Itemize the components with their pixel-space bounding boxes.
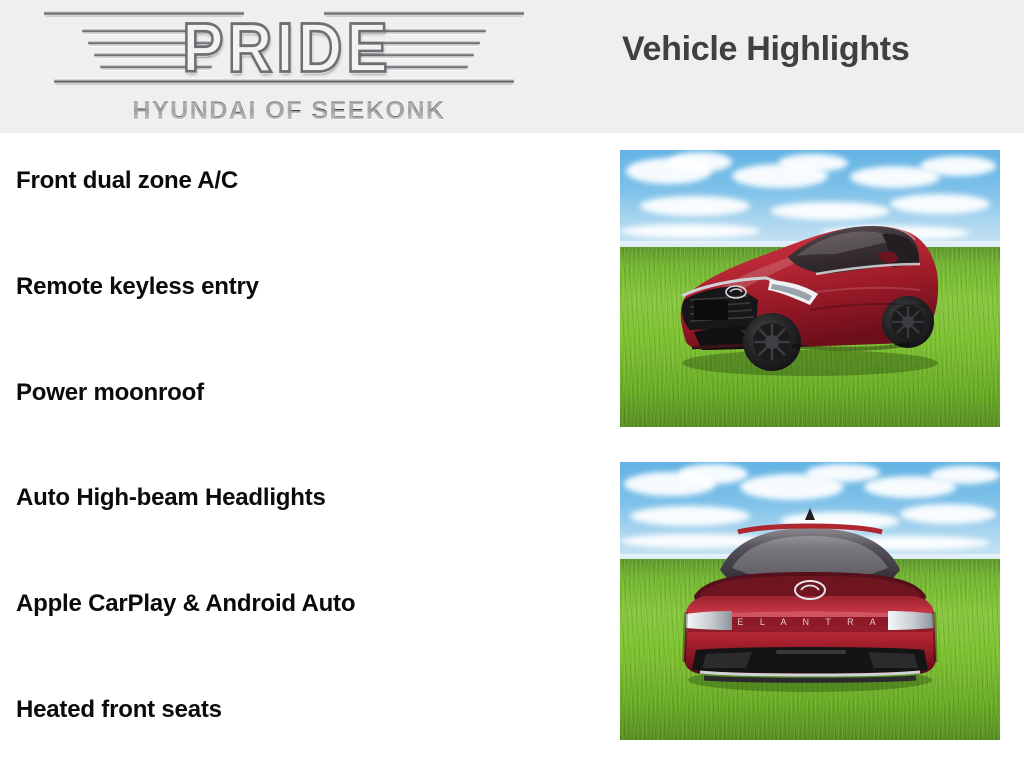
car-illustration-front (620, 150, 1000, 427)
page-header: PRIDE HYUNDAI OF SEEKONK Vehicle Highlig… (0, 0, 1024, 133)
page-title: Vehicle Highlights (622, 30, 909, 69)
vehicle-photo-rear[interactable]: E L A N T R A (620, 462, 1000, 740)
feature-item: Heated front seats (16, 696, 222, 724)
feature-item: Apple CarPlay & Android Auto (16, 590, 355, 618)
dealer-logo[interactable]: PRIDE HYUNDAI OF SEEKONK (14, 4, 554, 129)
elantra-badge: E L A N T R A (737, 617, 882, 627)
logo-subline: HYUNDAI OF SEEKONK (74, 96, 504, 126)
feature-item: Auto High-beam Headlights (16, 484, 326, 512)
feature-item: Remote keyless entry (16, 273, 259, 301)
feature-item: Front dual zone A/C (16, 167, 238, 195)
vehicle-photo-front[interactable] (620, 150, 1000, 427)
car-illustration-rear: E L A N T R A (620, 462, 1000, 740)
feature-item: Power moonroof (16, 379, 204, 407)
pride-logo-mark: PRIDE (14, 6, 554, 88)
vehicle-highlights-list: Front dual zone A/C Remote keyless entry… (0, 133, 600, 768)
logo-wordmark: PRIDE (132, 12, 442, 86)
